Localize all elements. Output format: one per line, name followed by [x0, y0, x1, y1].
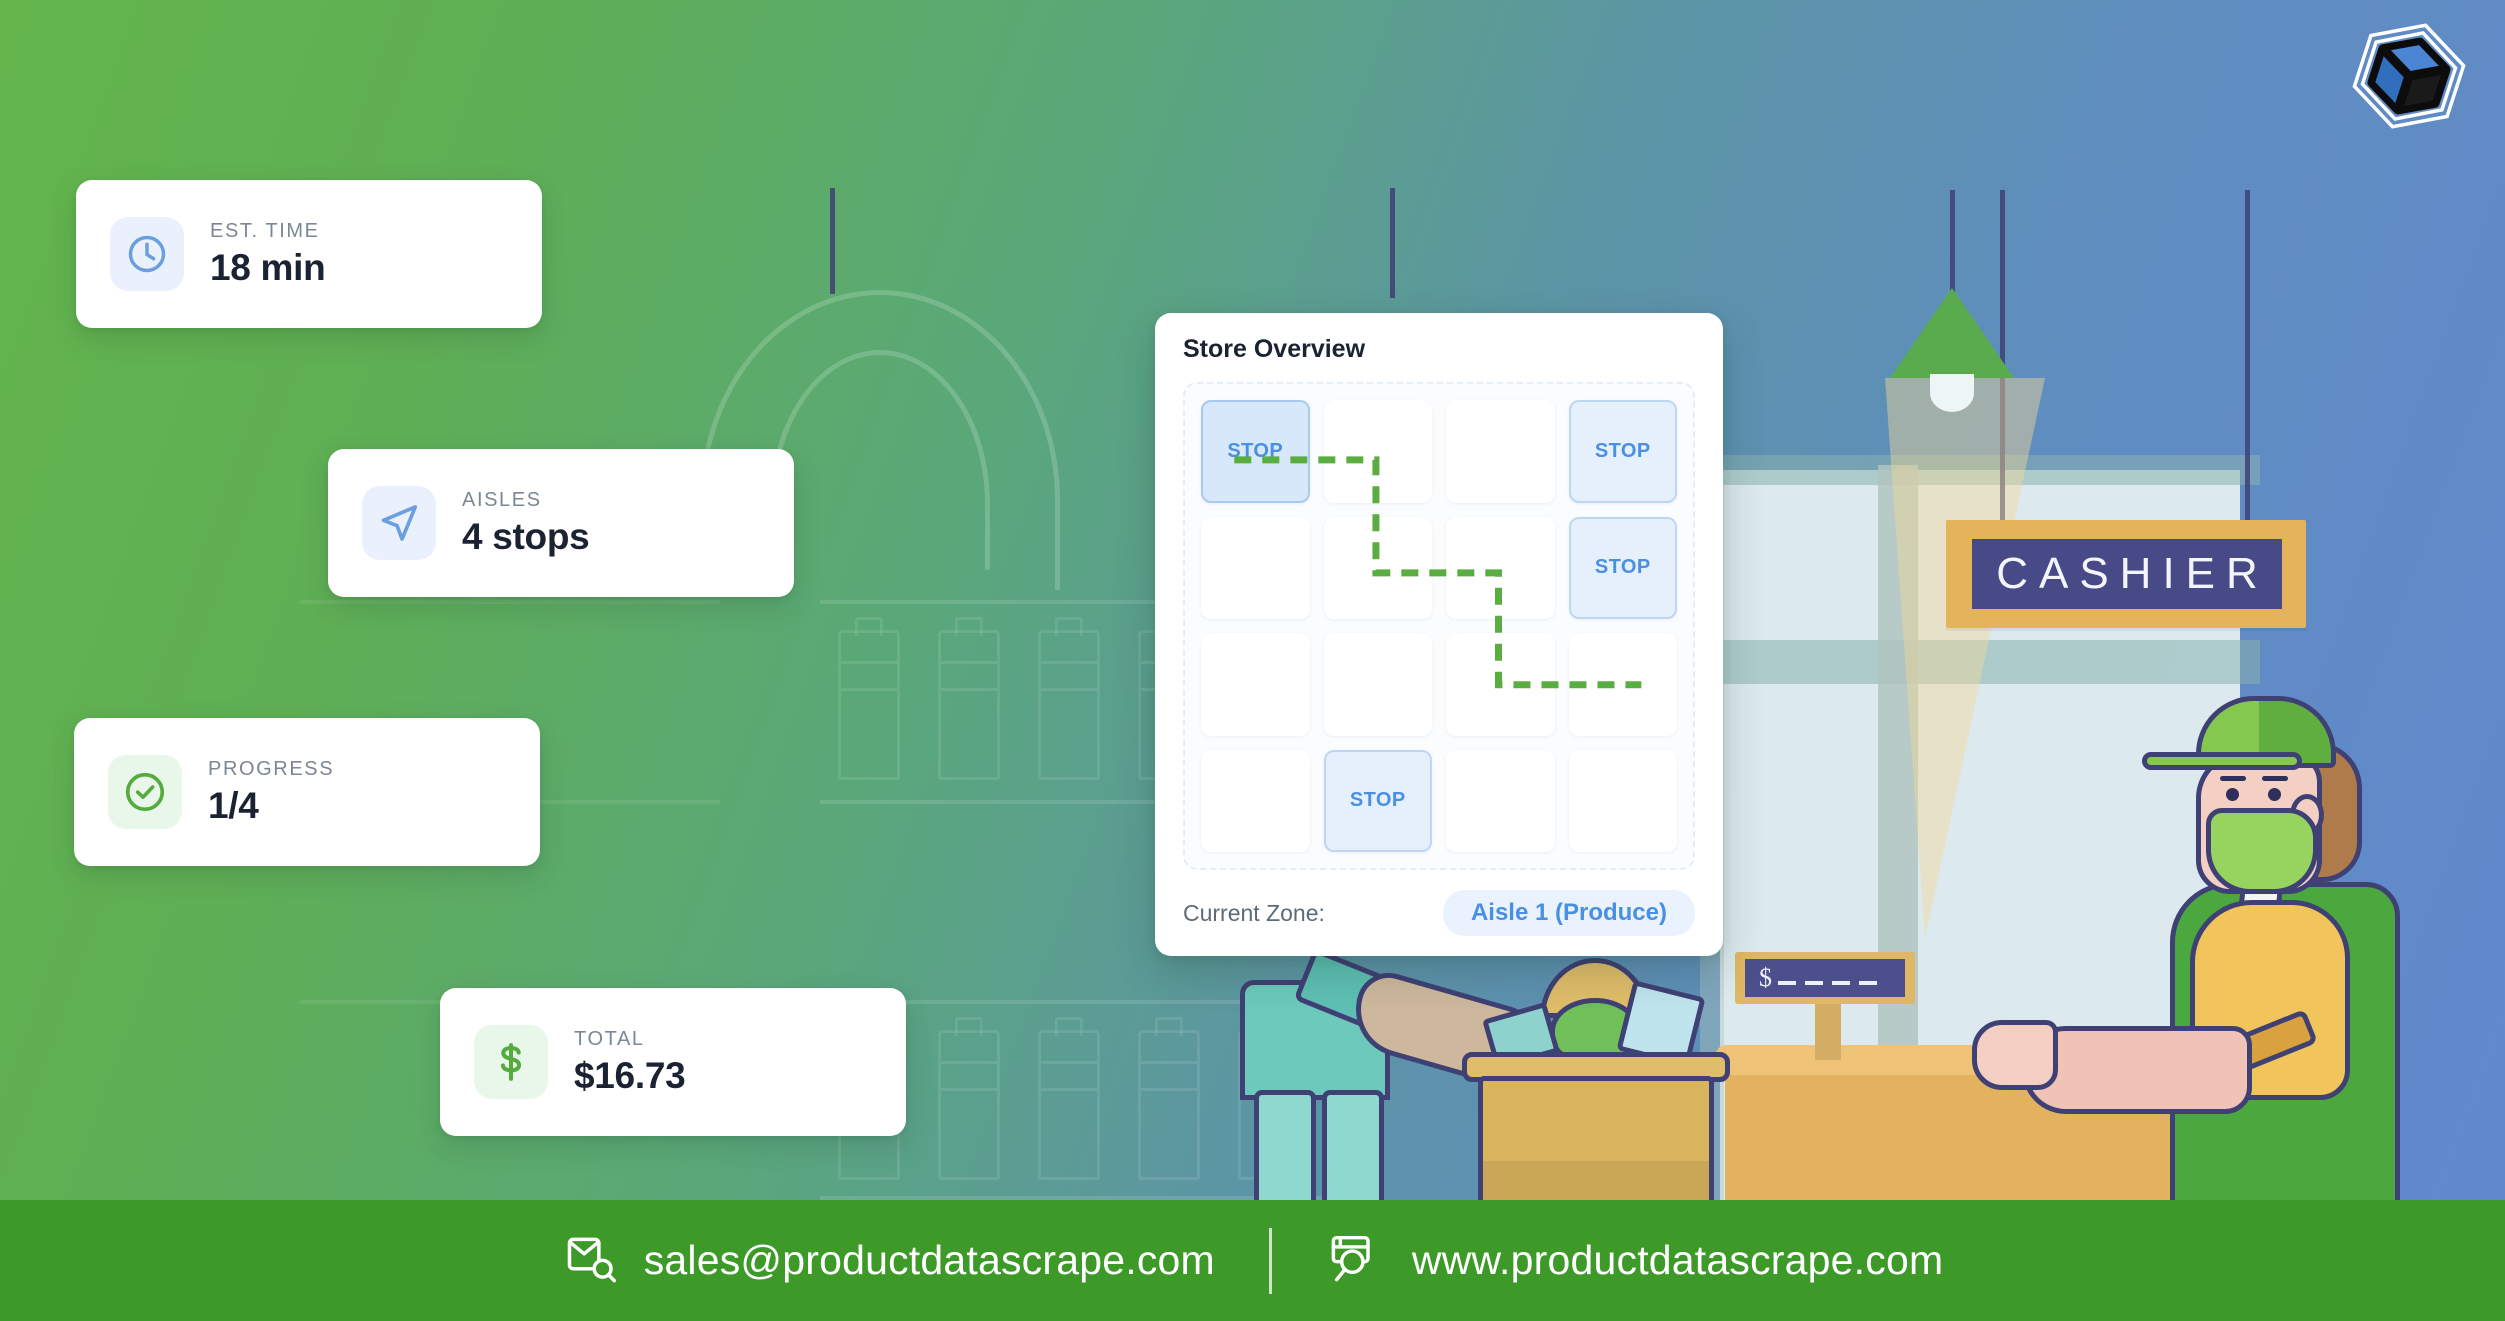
- grid-cell-r3c4[interactable]: [1569, 633, 1678, 736]
- navigation-arrow-icon: [362, 486, 436, 560]
- grid-cell-r2c2[interactable]: [1324, 517, 1433, 620]
- stat-value: 4 stops: [462, 516, 589, 558]
- check-circle-icon: [108, 755, 182, 829]
- panel-title: Store Overview: [1183, 335, 1695, 364]
- store-map-container: STOP STOP STOP: [1183, 382, 1695, 870]
- stat-card-progress[interactable]: PROGRESS 1/4: [74, 718, 540, 866]
- mail-search-icon: [562, 1230, 618, 1291]
- lamp-bulb-icon: [1930, 374, 1974, 412]
- stat-label: AISLES: [462, 489, 589, 512]
- store-grid: STOP STOP STOP: [1201, 400, 1677, 852]
- lamp-light-beam: [1885, 378, 2045, 938]
- hanging-cord: [2245, 190, 2250, 520]
- stop-label: STOP: [1227, 440, 1283, 463]
- stop-label: STOP: [1595, 556, 1651, 579]
- cashier-eye-left: [2226, 788, 2239, 801]
- grid-cell-r2c1[interactable]: [1201, 517, 1310, 620]
- panel-footer: Current Zone: Aisle 1 (Produce): [1183, 890, 1695, 936]
- footer-divider: [1269, 1228, 1272, 1294]
- grid-cell-r1c3[interactable]: [1446, 400, 1555, 503]
- grid-cell-r4c1[interactable]: [1201, 750, 1310, 853]
- cashier-face-mask: [2206, 808, 2318, 894]
- cashier-sign-plate: CASHIER: [1972, 539, 2282, 609]
- stat-label: PROGRESS: [208, 758, 334, 781]
- hanging-cord: [1390, 188, 1395, 298]
- grid-cell-r3c2[interactable]: [1324, 633, 1433, 736]
- cashier-eye-right: [2268, 788, 2281, 801]
- stop-label: STOP: [1350, 789, 1406, 812]
- stat-card-est-time[interactable]: EST. TIME 18 min: [76, 180, 542, 328]
- grid-cell-r2c4[interactable]: STOP: [1569, 517, 1678, 620]
- grid-cell-r3c3[interactable]: [1446, 633, 1555, 736]
- stat-label: TOTAL: [574, 1028, 685, 1051]
- lamp-shade-icon: [1890, 288, 2014, 378]
- grid-cell-r4c4[interactable]: [1569, 750, 1678, 853]
- hanging-cord: [830, 188, 835, 294]
- clock-icon: [110, 217, 184, 291]
- footer-website-item[interactable]: www.productdatascrape.com: [1326, 1230, 1943, 1291]
- register-currency-symbol: $: [1759, 963, 1772, 993]
- grid-cell-r3c1[interactable]: [1201, 633, 1310, 736]
- cashier-cap-brim: [2142, 752, 2302, 770]
- store-overview-panel: Store Overview STOP STOP STOP: [1155, 313, 1723, 956]
- cashier-hand: [1972, 1020, 2058, 1090]
- grid-cell-r4c3[interactable]: [1446, 750, 1555, 853]
- stat-label: EST. TIME: [210, 220, 325, 243]
- footer-email-item[interactable]: sales@productdatascrape.com: [562, 1230, 1215, 1291]
- stat-card-total[interactable]: TOTAL $16.73: [440, 988, 906, 1136]
- grid-cell-r1c2[interactable]: [1324, 400, 1433, 503]
- browser-search-icon: [1326, 1230, 1386, 1291]
- footer-email-text: sales@productdatascrape.com: [644, 1237, 1215, 1284]
- grid-cell-r1c4[interactable]: STOP: [1569, 400, 1678, 503]
- current-zone-badge: Aisle 1 (Produce): [1443, 890, 1695, 936]
- stat-value: $16.73: [574, 1055, 685, 1097]
- stop-label: STOP: [1595, 440, 1651, 463]
- poster-stage: CASHIER $: [0, 0, 2505, 1321]
- cashier-eyebrow-left: [2220, 776, 2246, 781]
- cashier-character: [2150, 690, 2505, 1250]
- stat-card-aisles[interactable]: AISLES 4 stops: [328, 449, 794, 597]
- register-amount-placeholder: [1778, 981, 1877, 985]
- dollar-icon: [474, 1025, 548, 1099]
- register-display: $: [1745, 959, 1905, 997]
- stat-value: 1/4: [208, 785, 334, 827]
- stat-value: 18 min: [210, 247, 325, 289]
- current-zone-label: Current Zone:: [1183, 900, 1325, 927]
- grid-cell-r1c1[interactable]: STOP: [1201, 400, 1310, 503]
- cashier-sign-frame: CASHIER: [1946, 520, 2306, 628]
- footer-contact-bar: sales@productdatascrape.com www.productd…: [0, 1200, 2505, 1321]
- grid-cell-r2c3[interactable]: [1446, 517, 1555, 620]
- grid-cell-r4c2[interactable]: STOP: [1324, 750, 1433, 853]
- cashier-eyebrow-right: [2262, 776, 2288, 781]
- cashier-sign-text: CASHIER: [1985, 549, 2269, 599]
- register-frame: $: [1735, 952, 1915, 1004]
- footer-website-text: www.productdatascrape.com: [1412, 1237, 1943, 1284]
